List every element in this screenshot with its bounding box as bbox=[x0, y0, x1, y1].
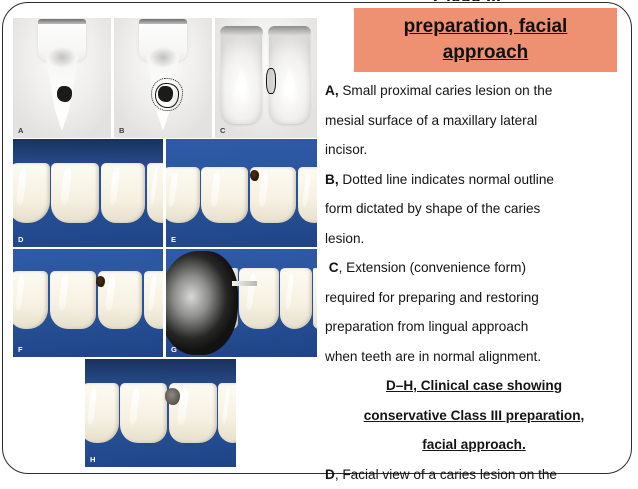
figure-label-e: E bbox=[171, 235, 176, 244]
enamel-gleam bbox=[87, 387, 98, 425]
clinical-tooth bbox=[120, 383, 166, 443]
caption-line: form dictated by shape of the caries bbox=[325, 194, 623, 224]
clinical-tooth bbox=[280, 268, 312, 328]
figure-label-d: D bbox=[18, 235, 24, 244]
clinical-photo-background-e bbox=[166, 139, 317, 247]
enamel-gleam bbox=[222, 387, 231, 425]
clinical-photo-background-h bbox=[85, 359, 236, 467]
enamel-gleam bbox=[210, 171, 222, 206]
figure-panel-g: G bbox=[166, 249, 317, 357]
figure-label-g: G bbox=[171, 345, 177, 354]
figure-label-c: C bbox=[220, 126, 226, 135]
figure-label-h: H bbox=[90, 455, 96, 464]
caption-line: when teeth are in normal alignment. bbox=[325, 342, 623, 372]
clinical-tooth bbox=[50, 271, 96, 329]
clinical-tooth bbox=[85, 383, 119, 443]
tooth-row-d bbox=[13, 163, 163, 223]
enamel-gleam bbox=[58, 275, 70, 312]
figure-panel-c: C bbox=[215, 18, 317, 138]
tooth-row-g bbox=[226, 268, 317, 328]
clinical-tooth bbox=[201, 167, 247, 223]
clinical-tooth bbox=[239, 268, 279, 328]
figure-row-2: D E bbox=[13, 139, 317, 247]
clinical-tooth bbox=[218, 383, 236, 443]
clinical-tooth bbox=[51, 163, 99, 223]
caption-line: A, Small proximal caries lesion on the bbox=[325, 76, 623, 106]
caption-line: lesion. bbox=[325, 224, 623, 254]
tooth-row-f bbox=[13, 271, 163, 329]
enamel-gleam bbox=[15, 275, 26, 312]
caption-line: preparation from lingual approach bbox=[325, 312, 623, 342]
caption-panel-letter: D bbox=[325, 467, 335, 482]
title-banner: preparation, facial approach bbox=[354, 8, 617, 72]
extension-outline-marker bbox=[266, 68, 276, 94]
clinical-photo-background-d bbox=[13, 139, 163, 247]
figure-label-b: B bbox=[119, 126, 125, 135]
bur-icon bbox=[232, 281, 256, 286]
clinical-tooth bbox=[147, 163, 163, 223]
figure-label-f: F bbox=[18, 345, 23, 354]
enamel-gleam bbox=[258, 171, 270, 206]
clinical-tooth bbox=[13, 271, 48, 329]
figure-row-1: A B C bbox=[13, 18, 317, 138]
caption-panel-letter: A, bbox=[325, 83, 339, 98]
caption-line: B, Dotted line indicates normal outline bbox=[325, 165, 623, 195]
enamel-gleam bbox=[105, 275, 116, 312]
caries-lesion-marker bbox=[57, 86, 72, 102]
caption-line: incisor. bbox=[325, 135, 623, 165]
caption-line: D–H, Clinical case showing bbox=[325, 371, 623, 401]
enamel-gleam bbox=[245, 273, 256, 311]
text-panel: Class III preparation, facial approach A… bbox=[325, 0, 625, 479]
caption-line-emphasis: conservative Class III preparation, bbox=[364, 408, 585, 423]
figure-panel: A B C bbox=[13, 18, 317, 472]
slide: A B C bbox=[0, 0, 638, 479]
caries-lesion-marker bbox=[158, 86, 173, 102]
pulp-shadow bbox=[149, 47, 176, 69]
figure-panel-f: F bbox=[13, 249, 163, 357]
caption-line: C, Extension (convenience form) bbox=[325, 253, 623, 283]
class-iii-preparation-marker bbox=[165, 388, 180, 405]
caption-line-emphasis: D–H, Clinical case showing bbox=[386, 378, 562, 393]
enamel-gleam bbox=[148, 275, 157, 311]
figure-panel-h: H bbox=[85, 359, 236, 467]
enamel-gleam bbox=[128, 387, 140, 425]
clinical-tooth bbox=[298, 167, 318, 223]
caption-line: mesial surface of a maxillary lateral bbox=[325, 106, 623, 136]
handpiece-icon bbox=[166, 251, 238, 355]
tooth-row-h bbox=[85, 383, 236, 443]
caption-panel-letter: B, bbox=[325, 172, 339, 187]
figure-row-4: H bbox=[13, 359, 317, 467]
clinical-tooth bbox=[313, 268, 317, 328]
enamel-gleam bbox=[302, 171, 311, 206]
caption-line: required for preparing and restoring bbox=[325, 283, 623, 313]
caption-line-emphasis: facial approach. bbox=[422, 437, 526, 452]
pulp-shadow bbox=[48, 47, 75, 69]
clinical-tooth bbox=[101, 163, 146, 223]
figure-panel-b: B bbox=[114, 18, 212, 138]
clinical-photo-background-f bbox=[13, 249, 163, 357]
caption-panel-letter: C bbox=[325, 260, 339, 275]
caption-body: A, Small proximal caries lesion on theme… bbox=[325, 76, 623, 489]
caption-line: conservative Class III preparation, bbox=[325, 401, 623, 431]
clinical-tooth bbox=[13, 163, 50, 223]
figure-label-a: A bbox=[18, 126, 24, 135]
clinical-tooth bbox=[144, 271, 163, 329]
enamel-gleam bbox=[285, 273, 295, 311]
enamel-gleam bbox=[168, 171, 178, 206]
tooth-lingual-left-icon bbox=[221, 28, 262, 124]
enamel-gleam bbox=[108, 167, 120, 205]
enamel-gleam bbox=[60, 167, 72, 205]
clinical-tooth bbox=[166, 167, 200, 223]
caption-line: facial approach. bbox=[325, 430, 623, 460]
enamel-gleam bbox=[150, 167, 159, 205]
figure-panel-d: D bbox=[13, 139, 163, 247]
clinical-photo-background-g bbox=[166, 249, 317, 357]
caries-lesion-marker bbox=[250, 170, 259, 181]
clipped-title-text: Class III bbox=[367, 0, 567, 1]
figure-row-3: F G bbox=[13, 249, 317, 357]
figure-panel-a: A bbox=[13, 18, 111, 138]
figure-panel-e: E bbox=[166, 139, 317, 247]
tooth-row-e bbox=[166, 167, 317, 223]
title-banner-text: preparation, facial approach bbox=[404, 14, 568, 66]
caption-line: D, Facial view of a caries lesion on the bbox=[325, 460, 623, 489]
enamel-gleam bbox=[15, 167, 26, 205]
